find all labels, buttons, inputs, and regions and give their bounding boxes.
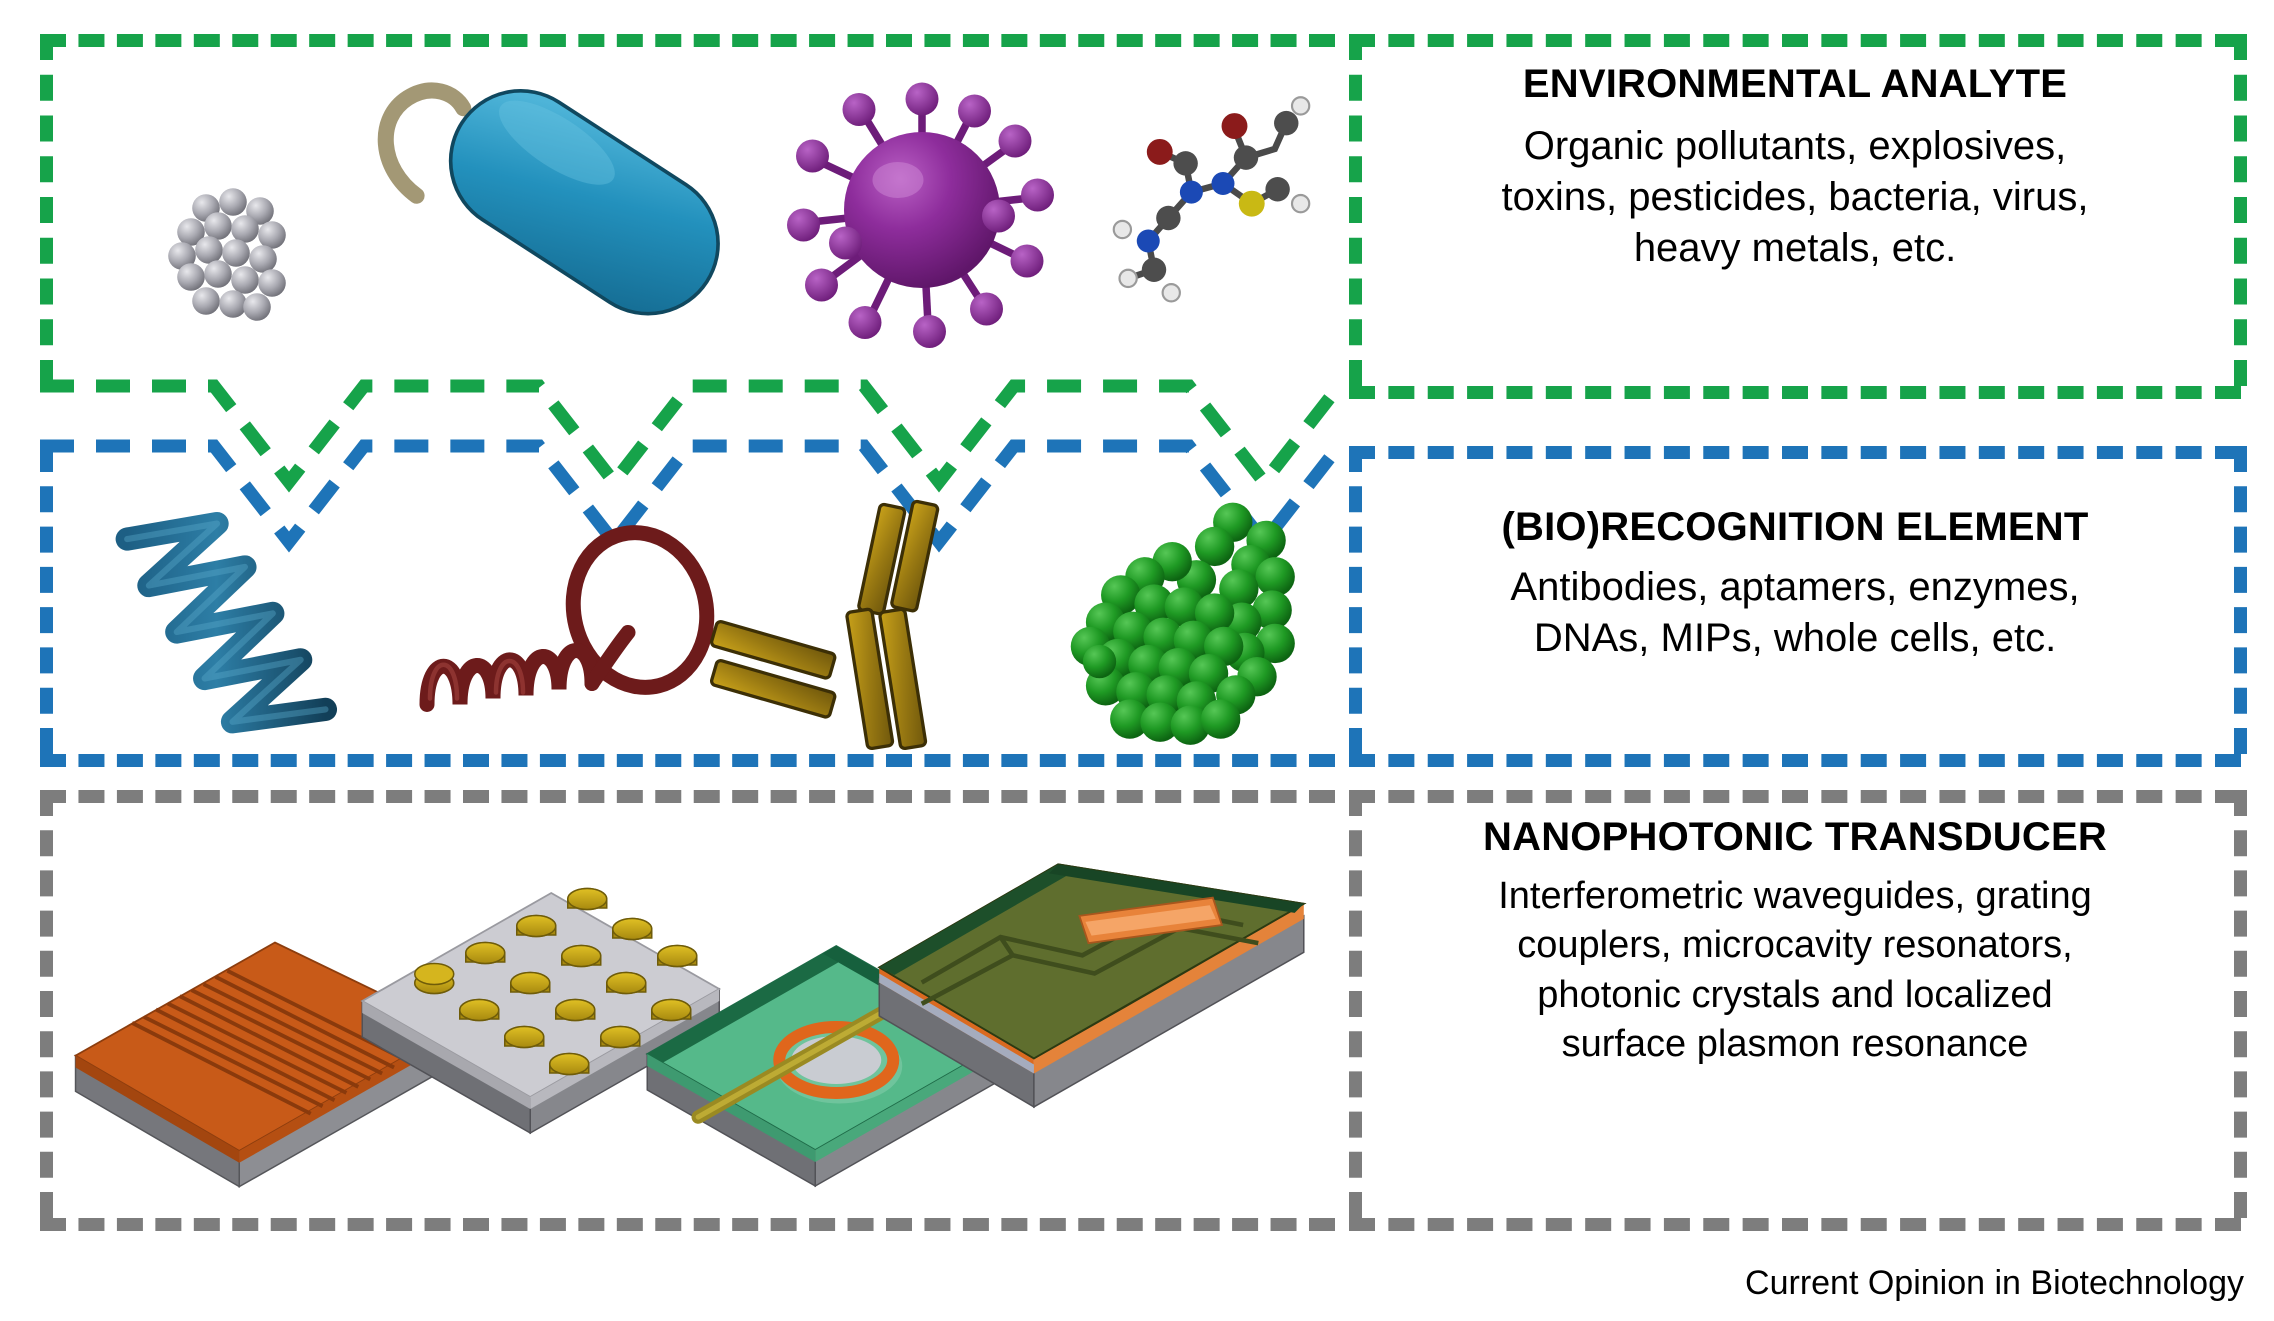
journal-credit: Current Opinion in Biotechnology (1745, 1264, 2244, 1303)
analyte-textbox-top-edge (1349, 34, 2241, 47)
analyte-title: ENVIRONMENTAL ANALYTE (1362, 62, 2228, 107)
transducer-textbox-right-edge (2234, 790, 2247, 1218)
analyte-textbox-left-edge (1349, 34, 1362, 386)
analyte-box-top-edge (40, 34, 1335, 47)
transducer-textbox-bottom-edge (1349, 1218, 2241, 1231)
analyte-body-line-2: toxins, pesticides, bacteria, virus, (1362, 172, 2228, 223)
recognition-textbox-bottom-edge (1349, 754, 2241, 767)
nanoparticle-cluster-icon (155, 175, 320, 340)
aptamer-helix-loop-icon (400, 525, 730, 755)
transducer-box-bottom-edge (40, 1218, 1335, 1231)
analyte-body-line-1: Organic pollutants, explosives, (1362, 121, 2228, 172)
transducer-textbox-left-edge (1349, 790, 1362, 1218)
virus-particle-icon (772, 60, 1072, 360)
transducer-body-line-1: Interferometric waveguides, grating (1362, 872, 2228, 921)
analyte-body-line-3: heavy metals, etc. (1362, 223, 2228, 274)
recognition-text-block: (BIO)RECOGNITION ELEMENT Antibodies, apt… (1362, 505, 2228, 664)
transducer-box-left-edge (40, 790, 53, 1218)
recognition-textbox-left-edge (1349, 446, 1362, 754)
interferometric-waveguide-chip-icon (855, 815, 1325, 1135)
transducer-title: NANOPHOTONIC TRANSDUCER (1362, 815, 2228, 860)
enzyme-space-filling-icon (1045, 495, 1310, 760)
bacterium-icon (325, 60, 765, 330)
analyte-box-left-edge (40, 34, 53, 386)
analyte-textbox-bottom-edge (1349, 386, 2241, 399)
analyte-textbox-right-edge (2234, 34, 2247, 386)
transducer-textbox-top-edge (1349, 790, 2241, 803)
transducer-body-line-4: surface plasmon resonance (1362, 1020, 2228, 1069)
small-molecule-icon (1085, 80, 1315, 310)
antibody-icon (740, 490, 1010, 760)
recognition-box-left-edge (40, 446, 53, 754)
transducer-body-line-2: couplers, microcavity resonators, (1362, 921, 2228, 970)
recognition-title: (BIO)RECOGNITION ELEMENT (1362, 505, 2228, 550)
transducer-box-top-edge (40, 790, 1335, 803)
recognition-textbox-top-edge (1349, 446, 2241, 459)
biosensor-schematic-figure: ENVIRONMENTAL ANALYTE Organic pollutants… (0, 0, 2274, 1321)
recognition-body-line-1: Antibodies, aptamers, enzymes, (1362, 562, 2228, 613)
dna-zigzag-ribbon-icon (108, 505, 388, 745)
transducer-body-line-3: photonic crystals and localized (1362, 971, 2228, 1020)
analyte-text-block: ENVIRONMENTAL ANALYTE Organic pollutants… (1362, 62, 2228, 274)
recognition-textbox-right-edge (2234, 446, 2247, 754)
recognition-body-line-2: DNAs, MIPs, whole cells, etc. (1362, 613, 2228, 664)
transducer-text-block: NANOPHOTONIC TRANSDUCER Interferometric … (1362, 815, 2228, 1069)
